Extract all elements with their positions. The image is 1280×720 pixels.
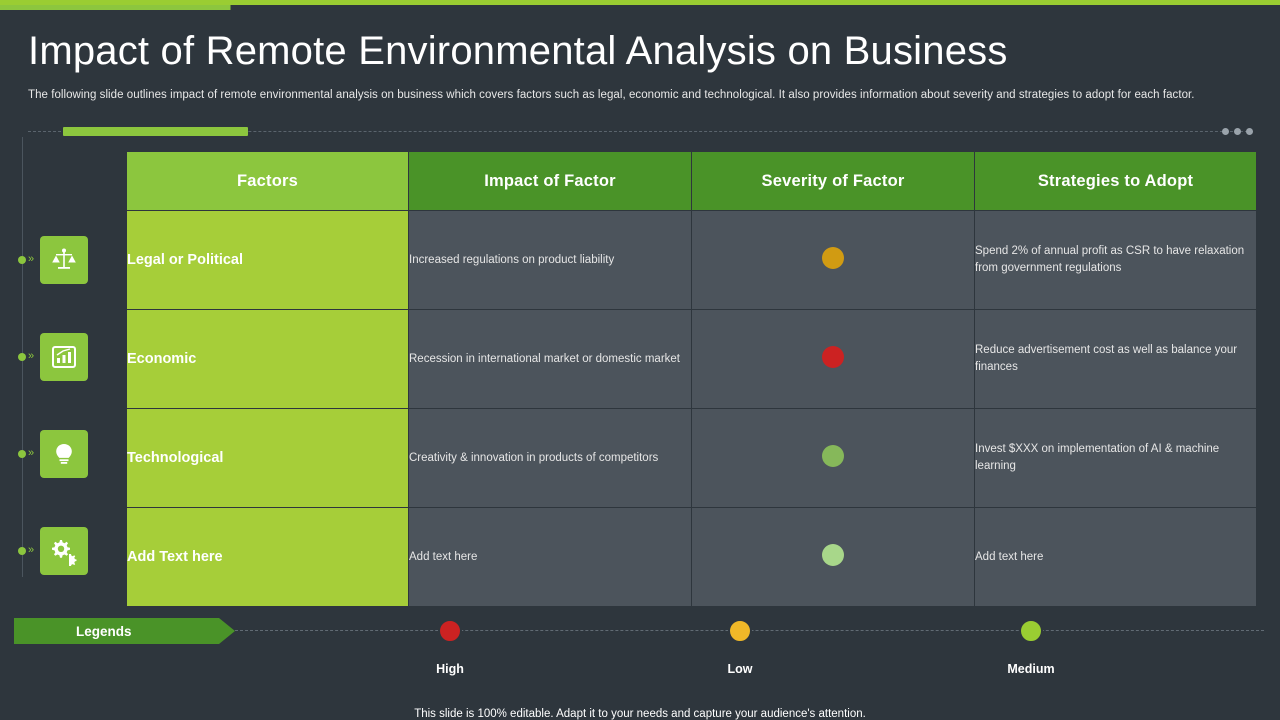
legend-bar: Legends High Low Medium bbox=[14, 615, 1264, 685]
scales-icon bbox=[40, 236, 88, 284]
chevron-right-icon: » bbox=[28, 448, 34, 459]
severity-cell bbox=[692, 310, 975, 409]
strategy-text: Add text here bbox=[975, 508, 1257, 607]
rail-bullet-icon bbox=[18, 353, 26, 361]
icon-row-economic: » bbox=[14, 308, 122, 405]
legend-arrow-icon bbox=[219, 618, 235, 644]
gear-settings-icon bbox=[40, 527, 88, 575]
column-header-factors: Factors bbox=[127, 152, 409, 211]
column-header-strategies: Strategies to Adopt bbox=[975, 152, 1257, 211]
rail-bullet-icon bbox=[18, 547, 26, 555]
icon-row-addtext: » bbox=[14, 502, 122, 599]
bar-chart-icon bbox=[40, 333, 88, 381]
strategy-text: Invest $XXX on implementation of AI & ma… bbox=[975, 409, 1257, 508]
severity-dot bbox=[822, 544, 844, 566]
severity-dot bbox=[822, 445, 844, 467]
icon-row-technological: » bbox=[14, 405, 122, 502]
impact-text: Add text here bbox=[409, 508, 692, 607]
legend-dot-low bbox=[728, 619, 752, 643]
rail-bullet-icon bbox=[18, 450, 26, 458]
slide-root: Impact of Remote Environmental Analysis … bbox=[0, 0, 1280, 720]
column-header-impact: Impact of Factor bbox=[409, 152, 692, 211]
chevron-right-icon: » bbox=[28, 351, 34, 362]
factor-name: Economic bbox=[127, 310, 409, 409]
factor-name: Add Text here bbox=[127, 508, 409, 607]
strategy-text: Reduce advertisement cost as well as bal… bbox=[975, 310, 1257, 409]
severity-cell bbox=[692, 211, 975, 310]
footer-note: This slide is 100% editable. Adapt it to… bbox=[0, 708, 1280, 720]
factor-name: Technological bbox=[127, 409, 409, 508]
severity-cell bbox=[692, 409, 975, 508]
chevron-right-icon: » bbox=[28, 545, 34, 556]
rail-dot-3 bbox=[1246, 128, 1253, 135]
legend-item-low: Low bbox=[680, 619, 800, 676]
legend-label: Legends bbox=[76, 624, 132, 639]
rail-green-bar bbox=[63, 127, 248, 136]
rail-bullet-icon bbox=[18, 256, 26, 264]
severity-dot bbox=[822, 247, 844, 269]
impact-text: Increased regulations on product liabili… bbox=[409, 211, 692, 310]
legend-label-tag: Legends bbox=[14, 618, 219, 644]
legend-item-medium: Medium bbox=[971, 619, 1091, 676]
icon-row-legal: » bbox=[14, 211, 122, 308]
table-header-row: Factors Impact of Factor Severity of Fac… bbox=[127, 152, 1257, 211]
legend-item-label: Low bbox=[680, 662, 800, 676]
icon-rail: » » bbox=[14, 211, 122, 601]
lightbulb-icon bbox=[40, 430, 88, 478]
page-subtitle: The following slide outlines impact of r… bbox=[28, 89, 1243, 101]
rail-dot-2 bbox=[1234, 128, 1241, 135]
table-row: Add Text here Add text here Add text her… bbox=[127, 508, 1257, 607]
rail-dot-1 bbox=[1222, 128, 1229, 135]
factor-name: Legal or Political bbox=[127, 211, 409, 310]
table-row: Technological Creativity & innovation in… bbox=[127, 409, 1257, 508]
strategy-text: Spend 2% of annual profit as CSR to have… bbox=[975, 211, 1257, 310]
page-title: Impact of Remote Environmental Analysis … bbox=[28, 29, 1008, 74]
legend-dot-medium bbox=[1019, 619, 1043, 643]
severity-cell bbox=[692, 508, 975, 607]
decorative-rail bbox=[28, 127, 1253, 137]
legend-item-label: Medium bbox=[971, 662, 1091, 676]
table-row: Economic Recession in international mark… bbox=[127, 310, 1257, 409]
impact-table: Factors Impact of Factor Severity of Fac… bbox=[126, 151, 1257, 607]
column-header-severity: Severity of Factor bbox=[692, 152, 975, 211]
severity-dot bbox=[822, 346, 844, 368]
legend-item-high: High bbox=[390, 619, 510, 676]
impact-text: Recession in international market or dom… bbox=[409, 310, 692, 409]
table-row: Legal or Political Increased regulations… bbox=[127, 211, 1257, 310]
legend-dot-high bbox=[438, 619, 462, 643]
impact-text: Creativity & innovation in products of c… bbox=[409, 409, 692, 508]
chevron-right-icon: » bbox=[28, 254, 34, 265]
legend-item-label: High bbox=[390, 662, 510, 676]
